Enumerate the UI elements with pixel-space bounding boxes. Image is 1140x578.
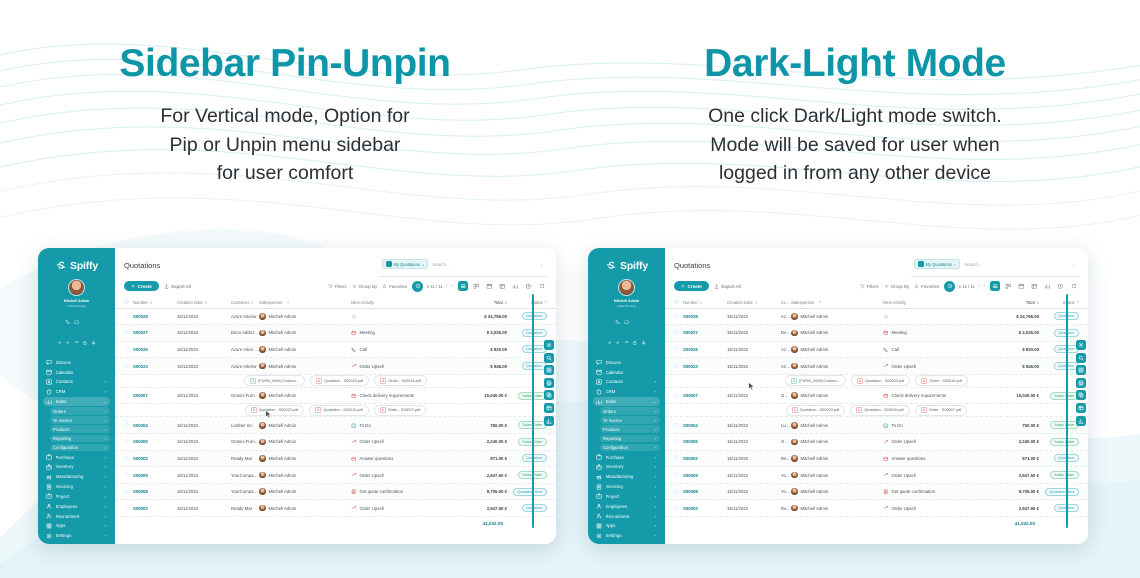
filter-group-by-button[interactable]: Group By bbox=[884, 284, 910, 289]
attachment-chip[interactable]: A Quotation - S00010.pdf bbox=[309, 405, 368, 416]
status-badge: Quotation bbox=[522, 504, 547, 512]
table-row[interactable]: S00007 15/11/2022 Gemini Furniture Mitch… bbox=[665, 388, 1088, 405]
column-header-next-activity[interactable]: Next Activity bbox=[351, 300, 449, 305]
activity-view-icon[interactable] bbox=[1055, 281, 1065, 291]
attachment-chip[interactable]: X [FURN_0096] Custom... bbox=[785, 375, 846, 386]
sidebar-item-calendar[interactable]: Calendar bbox=[593, 368, 660, 376]
settings-icon[interactable] bbox=[544, 340, 554, 350]
row-checkbox[interactable] bbox=[124, 346, 133, 352]
table-row[interactable]: S00002 15/11/2022 Ready Mat Mitchell Adm… bbox=[665, 451, 1088, 468]
cell-total: 2,947.50 € bbox=[981, 473, 1039, 478]
meeting-icon bbox=[351, 330, 357, 336]
sidebar-item-purchase[interactable]: Purchase› bbox=[593, 453, 660, 461]
cell-number[interactable]: S00027 bbox=[133, 330, 177, 335]
activity-view-icon[interactable] bbox=[523, 281, 533, 291]
export-icon[interactable] bbox=[1076, 403, 1086, 413]
sidebar-item-invoicing[interactable]: Invoicing› bbox=[43, 482, 110, 490]
list-view-icon[interactable] bbox=[458, 281, 468, 291]
cell-number[interactable]: S00004 bbox=[683, 423, 727, 428]
sidebar-item-apps[interactable]: Apps› bbox=[43, 522, 110, 530]
cell-next-activity: Call bbox=[351, 347, 449, 353]
chart-icon[interactable] bbox=[544, 416, 554, 426]
crm-icon bbox=[596, 389, 602, 395]
row-checkbox[interactable] bbox=[124, 313, 133, 319]
cell-creation-date: 15/11/2022 bbox=[727, 506, 781, 511]
table-row[interactable]: S00023 15/11/2022 Azure Interior Mitchel… bbox=[665, 358, 1088, 375]
heading-block-right: Dark-Light Mode One click Dark/Light mod… bbox=[570, 0, 1140, 232]
cell-status: Sales Order bbox=[507, 438, 547, 446]
print-icon[interactable] bbox=[1076, 378, 1086, 388]
table-row[interactable]: S00027 15/11/2022 Deco Addict, Addison O… bbox=[115, 325, 556, 342]
row-checkbox[interactable] bbox=[674, 489, 683, 495]
search-input[interactable]: Search... bbox=[964, 262, 1067, 267]
cell-total: 2,240.00 € bbox=[449, 439, 507, 444]
cell-total: 2,947.50 € bbox=[981, 506, 1039, 511]
sidebar-item-products[interactable]: Products› bbox=[600, 425, 660, 433]
cell-creation-date: 15/11/2022 bbox=[177, 423, 231, 428]
control-panel-left: Quotations My Quotations × Search... Cre… bbox=[115, 248, 556, 297]
settings-icon[interactable] bbox=[1076, 340, 1086, 350]
cell-number[interactable]: S00027 bbox=[683, 330, 727, 335]
filter-favorites-button[interactable]: Favorites bbox=[914, 284, 939, 289]
sidebar-item-label: Settings bbox=[56, 533, 102, 538]
cell-number[interactable]: S00002 bbox=[133, 456, 177, 461]
user-profile[interactable]: Mitchell Admin Input Homing bbox=[593, 279, 660, 308]
attachment-chip[interactable]: A Quotation - S00023.pdf bbox=[786, 405, 845, 416]
lock-icon[interactable] bbox=[632, 332, 638, 350]
row-checkbox[interactable] bbox=[124, 393, 133, 399]
search-options-icon[interactable] bbox=[1071, 255, 1076, 273]
cell-salesperson: Mitchell Admin bbox=[259, 330, 351, 337]
cell-number[interactable]: S00023 bbox=[133, 364, 177, 369]
cell-next-activity: Answer questions bbox=[351, 456, 449, 462]
sidebar-item-label: To Invoice bbox=[603, 418, 651, 423]
app-screenshot-right: Spiffy Mitchell Admin Input Homing Discu… bbox=[588, 248, 1088, 544]
cell-customer: Lumber Inc bbox=[231, 423, 259, 428]
status-badge: Sales Order bbox=[1050, 471, 1079, 479]
cell-creation-date: 15/11/2022 bbox=[727, 423, 781, 428]
close-icon[interactable]: × bbox=[422, 262, 424, 267]
column-header-status[interactable]: Status⇅ bbox=[507, 300, 547, 305]
cell-status: Quotation bbox=[1039, 504, 1079, 512]
attachment-label: Order - S00016.pdf bbox=[929, 379, 962, 383]
attachment-label: [FURN_0096] Custom... bbox=[258, 379, 299, 383]
select-all-checkbox[interactable] bbox=[124, 299, 133, 305]
table-row[interactable]: S00003 15/11/2022 Ready Mat Mitchell Adm… bbox=[665, 500, 1088, 517]
table-row[interactable]: S00003 15/11/2022 Ready Mat Mitchell Adm… bbox=[115, 500, 556, 517]
invoicing-icon bbox=[596, 484, 602, 490]
page-title-left: Sidebar Pin-Unpin bbox=[0, 42, 570, 86]
cell-number[interactable]: S00008 bbox=[133, 489, 177, 494]
sidebar-item-invoicing[interactable]: Invoicing› bbox=[593, 482, 660, 490]
row-checkbox[interactable] bbox=[124, 363, 133, 369]
avatar bbox=[791, 488, 798, 495]
export-icon[interactable] bbox=[544, 403, 554, 413]
table-row[interactable]: S00026 15/11/2022 Azure Interior, Nicole… bbox=[665, 342, 1088, 359]
cell-creation-date: 15/11/2022 bbox=[727, 439, 781, 444]
page-subtitle-left: For Vertical mode, Option for Pip or Unp… bbox=[0, 102, 570, 189]
chevron-right-icon: › bbox=[105, 504, 106, 509]
row-checkbox[interactable] bbox=[674, 505, 683, 511]
sidebar-item-orders[interactable]: Orders› bbox=[50, 407, 110, 415]
row-checkbox[interactable] bbox=[674, 346, 683, 352]
create-button[interactable]: Create bbox=[124, 281, 159, 291]
sidebar-item-inventory[interactable]: Inventory› bbox=[43, 463, 110, 471]
cell-number[interactable]: S00005 bbox=[133, 439, 177, 444]
attachment-chip[interactable]: A Order - S00016.pdf bbox=[374, 375, 427, 386]
table-header-row: Number⇅ Creation Date⇅ Customer⇅ Salespe… bbox=[115, 297, 556, 309]
row-checkbox[interactable] bbox=[674, 439, 683, 445]
cell-customer: Ready Mat bbox=[231, 456, 259, 461]
search-bar[interactable]: My Quotations × Search... bbox=[379, 254, 547, 277]
sidebar-item-label: Configuration bbox=[53, 445, 101, 450]
cell-number[interactable]: S00023 bbox=[683, 364, 727, 369]
table-row[interactable]: S00028 15/11/2022 Azure Interior Mitchel… bbox=[665, 309, 1088, 326]
pin-icon[interactable] bbox=[91, 332, 97, 350]
row-checkbox[interactable] bbox=[674, 472, 683, 478]
attachment-row: A Quotation - S00023.pdf A Quotation - S… bbox=[115, 404, 556, 417]
table-row[interactable]: S00005 15/11/2022 Gemini Furniture Mitch… bbox=[115, 434, 556, 451]
table-row[interactable]: S00008 15/11/2022 YourCompany, Joel Will… bbox=[115, 484, 556, 501]
search-options-icon[interactable] bbox=[539, 255, 544, 273]
column-header-creation-date[interactable]: Creation Date⇅ bbox=[177, 300, 231, 305]
row-checkbox[interactable] bbox=[124, 330, 133, 336]
control-panel-right: Quotations My Quotations × Search... Cre… bbox=[665, 248, 1088, 297]
filter-filters-button[interactable]: Filters bbox=[328, 284, 347, 289]
row-checkbox[interactable] bbox=[124, 455, 133, 461]
chart-icon[interactable] bbox=[1076, 416, 1086, 426]
sidebar-item-manufacturing[interactable]: Manufacturing› bbox=[593, 473, 660, 481]
cell-customer: Ready Mat bbox=[231, 506, 259, 511]
export-all-button[interactable]: Export All bbox=[714, 284, 741, 289]
attachment-row: A Quotation - S00023.pdf A Quotation - S… bbox=[665, 404, 1088, 417]
sidebar-item-label: Project bbox=[606, 494, 652, 499]
call-icon bbox=[351, 347, 357, 353]
create-label: Create bbox=[138, 284, 152, 289]
cell-number[interactable]: S00028 bbox=[683, 314, 727, 319]
row-checkbox[interactable] bbox=[674, 455, 683, 461]
purchase-icon bbox=[596, 454, 602, 460]
sidebar-item-employees[interactable]: Employees› bbox=[593, 502, 660, 510]
row-checkbox[interactable] bbox=[674, 330, 683, 336]
sidebar-item-project[interactable]: Project› bbox=[43, 492, 110, 500]
cell-status: Sales Order bbox=[1039, 471, 1079, 479]
wifi-icon[interactable] bbox=[74, 332, 80, 350]
column-header-number[interactable]: Number⇅ bbox=[683, 300, 727, 305]
sidebar-item-configuration[interactable]: Configuration› bbox=[600, 444, 660, 452]
cell-number[interactable]: S00009 bbox=[133, 473, 177, 478]
sidebar-item-to-invoice[interactable]: To Invoice› bbox=[600, 416, 660, 424]
column-header-customer[interactable]: Customer⇅ bbox=[781, 300, 791, 305]
print-icon[interactable] bbox=[544, 378, 554, 388]
cell-number[interactable]: S00004 bbox=[133, 423, 177, 428]
record-count-badge[interactable] bbox=[412, 281, 423, 292]
list-view-icon[interactable] bbox=[990, 281, 1000, 291]
cell-number[interactable]: S00028 bbox=[133, 314, 177, 319]
column-header-creation-date[interactable]: Creation Date⇅ bbox=[727, 300, 781, 305]
sidebar-item-sales[interactable]: Sales⌄ bbox=[43, 397, 110, 405]
sidebar-item-reporting[interactable]: Reporting› bbox=[600, 435, 660, 443]
table-row[interactable]: S00004 15/11/2022 Lumber Inc Mitchell Ad… bbox=[665, 417, 1088, 434]
pager-next-button[interactable]: › bbox=[451, 283, 453, 289]
sidebar-item-crm[interactable]: CRM› bbox=[43, 388, 110, 396]
chevron-right-icon: › bbox=[655, 533, 656, 538]
attachment-chip[interactable]: A Quotation - S00010.pdf bbox=[850, 405, 909, 416]
column-header-next-activity[interactable]: Next Activity bbox=[883, 300, 981, 305]
brand-name: Spiffy bbox=[620, 260, 648, 272]
sidebar-item-recruitment[interactable]: Recruitment› bbox=[43, 512, 110, 520]
lock-icon[interactable] bbox=[82, 332, 88, 350]
cell-number[interactable]: S00002 bbox=[683, 456, 727, 461]
table-row[interactable]: S00023 15/11/2022 Azure Interior Mitchel… bbox=[115, 358, 556, 375]
chevron-right-icon: › bbox=[655, 464, 656, 469]
sidebar-menu: Discuss Calendar Contacts› CRM› Sales⌄ O… bbox=[43, 358, 110, 540]
calendar-view-icon[interactable] bbox=[484, 281, 494, 291]
attachment-label: [FURN_0096] Custom... bbox=[799, 379, 840, 383]
sidebar-item-recruitment[interactable]: Recruitment› bbox=[593, 512, 660, 520]
employees-icon bbox=[46, 503, 52, 509]
sidebar-item-label: Invoicing bbox=[56, 484, 102, 489]
row-checkbox[interactable] bbox=[124, 489, 133, 495]
pivot-view-icon[interactable] bbox=[497, 281, 507, 291]
pager-prev-button[interactable]: ‹ bbox=[446, 283, 448, 289]
todo-icon bbox=[883, 423, 889, 429]
search-input[interactable]: Search... bbox=[432, 262, 535, 267]
pin-icon[interactable] bbox=[641, 332, 647, 350]
chevron-right-icon: › bbox=[105, 455, 106, 460]
attachment-chip[interactable]: A Quotation - S00023.pdf bbox=[851, 375, 910, 386]
filter-label: Group By bbox=[359, 284, 378, 289]
row-checkbox[interactable] bbox=[674, 393, 683, 399]
calendar-icon[interactable] bbox=[83, 312, 89, 330]
table-row[interactable]: S00008 15/11/2022 YourCompany, Joel Will… bbox=[665, 484, 1088, 501]
cell-number[interactable]: S00009 bbox=[683, 473, 727, 478]
sidebar-item-discuss[interactable]: Discuss bbox=[593, 358, 660, 366]
user-profile[interactable]: Mitchell Admin Input Homing bbox=[43, 279, 110, 308]
attachment-chip[interactable]: A Quotation - S00023.pdf bbox=[310, 375, 369, 386]
floating-toolbar-right bbox=[1076, 340, 1086, 426]
search-facet[interactable]: My Quotations × bbox=[914, 259, 960, 269]
recruitment-icon bbox=[46, 513, 52, 519]
sidebar-item-crm[interactable]: CRM› bbox=[593, 388, 660, 396]
cell-salesperson: Mitchell Admin bbox=[791, 488, 883, 495]
search-icon[interactable] bbox=[1076, 353, 1086, 363]
cell-customer: Lumber Inc bbox=[781, 423, 791, 428]
sidebar-item-settings[interactable]: Settings› bbox=[43, 532, 110, 540]
chevron-right-icon: › bbox=[655, 523, 656, 528]
pdf-file-icon: A bbox=[856, 407, 862, 413]
export-all-button[interactable]: Export All bbox=[164, 284, 191, 289]
status-badge: Sales Order bbox=[1050, 421, 1079, 429]
refresh-icon[interactable] bbox=[1070, 281, 1080, 291]
cell-total: $ 3,025.00 bbox=[981, 330, 1039, 335]
cell-salesperson: Mitchell Admin bbox=[791, 363, 883, 370]
select-all-checkbox[interactable] bbox=[674, 299, 683, 305]
cell-number[interactable]: S00005 bbox=[683, 439, 727, 444]
spiffy-s-logo bbox=[605, 260, 617, 272]
search-bar[interactable]: My Quotations × Search... bbox=[911, 254, 1079, 277]
cell-salesperson: Mitchell Admin bbox=[259, 439, 351, 446]
close-icon[interactable]: × bbox=[954, 262, 956, 267]
table-row[interactable]: S00009 15/11/2022 YourCompany, Joel Will… bbox=[115, 467, 556, 484]
wifi-icon[interactable] bbox=[624, 332, 630, 350]
cell-number[interactable]: S00003 bbox=[683, 506, 727, 511]
cell-salesperson: Mitchell Admin bbox=[791, 346, 883, 353]
filter-group-by-button[interactable]: Group By bbox=[352, 284, 378, 289]
chevron-right-icon: › bbox=[105, 464, 106, 469]
attachment-label: Quotation - S00010.pdf bbox=[864, 408, 903, 412]
scroll-rail[interactable] bbox=[1066, 294, 1068, 528]
cell-number[interactable]: S00026 bbox=[683, 347, 727, 352]
cell-number[interactable]: S00007 bbox=[133, 393, 177, 398]
attachment-chip[interactable]: A Order - S00016.pdf bbox=[915, 375, 968, 386]
pager-next-button[interactable]: › bbox=[983, 283, 985, 289]
graph-view-icon[interactable] bbox=[1042, 281, 1052, 291]
avatar bbox=[259, 422, 266, 429]
table-row[interactable]: S00009 15/11/2022 YourCompany, Joel Will… bbox=[665, 467, 1088, 484]
scroll-rail[interactable] bbox=[532, 294, 534, 528]
column-header-total[interactable]: Total⇅ bbox=[449, 300, 507, 305]
upsell-icon bbox=[351, 505, 357, 511]
table-row[interactable]: S00028 15/11/2022 Azure Interior Mitchel… bbox=[115, 309, 556, 326]
link-icon[interactable] bbox=[615, 332, 621, 350]
cell-next-activity: Meeting bbox=[883, 330, 981, 336]
avatar bbox=[259, 439, 266, 446]
cell-total: $ 946.00 bbox=[449, 364, 507, 369]
cell-number[interactable]: S00007 bbox=[683, 393, 727, 398]
sidebar-item-to-invoice[interactable]: To Invoice› bbox=[50, 416, 110, 424]
row-checkbox[interactable] bbox=[674, 313, 683, 319]
column-header-status[interactable]: Status⇅ bbox=[1039, 300, 1079, 305]
calendar-icon[interactable] bbox=[633, 312, 639, 330]
contacts-icon bbox=[46, 379, 52, 385]
home-icon[interactable] bbox=[624, 312, 630, 330]
cell-number[interactable]: S00008 bbox=[683, 489, 727, 494]
column-header-customer[interactable]: Customer⇅ bbox=[231, 300, 259, 305]
calendar-view-icon[interactable] bbox=[1016, 281, 1026, 291]
cell-next-activity: Order Upsell bbox=[351, 472, 449, 478]
refresh-icon[interactable] bbox=[538, 281, 548, 291]
sidebar-item-reporting[interactable]: Reporting› bbox=[50, 435, 110, 443]
cell-customer: Gemini Furniture bbox=[231, 439, 259, 444]
sidebar-item-label: Discuss bbox=[606, 360, 657, 365]
cell-salesperson: Mitchell Admin bbox=[259, 488, 351, 495]
pager-prev-button[interactable]: ‹ bbox=[978, 283, 980, 289]
cell-customer: YourCompany, Joel Willis bbox=[781, 473, 791, 478]
sidebar-item-products[interactable]: Products› bbox=[50, 425, 110, 433]
sidebar-item-calendar[interactable]: Calendar bbox=[43, 368, 110, 376]
sidebar-item-orders[interactable]: Orders› bbox=[600, 407, 660, 415]
project-icon bbox=[46, 493, 52, 499]
avatar bbox=[618, 279, 635, 296]
column-header-total[interactable]: Total⇅ bbox=[981, 300, 1039, 305]
cell-status: Sales Order bbox=[1039, 392, 1079, 400]
cell-number[interactable]: S00026 bbox=[133, 347, 177, 352]
duplicate-icon[interactable] bbox=[544, 390, 554, 400]
sidebar-item-employees[interactable]: Employees› bbox=[43, 502, 110, 510]
cell-total: 15,040.00 € bbox=[449, 393, 507, 398]
search-icon[interactable] bbox=[544, 353, 554, 363]
phone-icon[interactable] bbox=[65, 312, 71, 330]
row-checkbox[interactable] bbox=[124, 505, 133, 511]
sidebar-item-project[interactable]: Project› bbox=[593, 492, 660, 500]
page-subtitle-right: One click Dark/Light mode switch. Mode w… bbox=[570, 102, 1140, 189]
row-checkbox[interactable] bbox=[124, 422, 133, 428]
mouse-cursor bbox=[265, 406, 271, 414]
pivot-view-icon[interactable] bbox=[1029, 281, 1039, 291]
sidebar-item-label: Settings bbox=[606, 533, 652, 538]
link-icon[interactable] bbox=[65, 332, 71, 350]
sidebar-item-settings[interactable]: Settings› bbox=[593, 532, 660, 540]
cell-customer: YourCompany, Joel Willis bbox=[781, 489, 791, 494]
table-row[interactable]: S00002 15/11/2022 Ready Mat Mitchell Adm… bbox=[115, 451, 556, 468]
phone-icon[interactable] bbox=[615, 312, 621, 330]
cell-salesperson: Mitchell Admin bbox=[259, 472, 351, 479]
sidebar-item-configuration[interactable]: Configuration› bbox=[50, 444, 110, 452]
row-checkbox[interactable] bbox=[124, 439, 133, 445]
sidebar-item-contacts[interactable]: Contacts› bbox=[593, 378, 660, 386]
filter-favorites-button[interactable]: Favorites bbox=[382, 284, 407, 289]
row-checkbox[interactable] bbox=[674, 422, 683, 428]
attachment-chip[interactable]: A Order - S00007.pdf bbox=[374, 405, 427, 416]
sidebar-item-contacts[interactable]: Contacts› bbox=[43, 378, 110, 386]
cell-number[interactable]: S00003 bbox=[133, 506, 177, 511]
filter-filters-button[interactable]: Filters bbox=[860, 284, 879, 289]
sidebar-item-sales[interactable]: Sales⌄ bbox=[593, 397, 660, 405]
column-header-salesperson[interactable]: Salesperson⇅ bbox=[259, 300, 351, 305]
apps-grid-icon[interactable] bbox=[544, 365, 554, 375]
chevron-right-icon: › bbox=[655, 427, 656, 432]
table-row[interactable]: S00004 15/11/2022 Lumber Inc Mitchell Ad… bbox=[115, 417, 556, 434]
table-row[interactable]: S00007 15/11/2022 Gemini Furniture Mitch… bbox=[115, 388, 556, 405]
kanban-view-icon[interactable] bbox=[1003, 281, 1013, 291]
sidebar-item-inventory[interactable]: Inventory› bbox=[593, 463, 660, 471]
table-row[interactable]: S00027 15/11/2022 Deco Addict, Addison O… bbox=[665, 325, 1088, 342]
sidebar-item-purchase[interactable]: Purchase› bbox=[43, 453, 110, 461]
link-icon[interactable] bbox=[607, 332, 613, 350]
link-icon[interactable] bbox=[57, 332, 63, 350]
table-row[interactable]: S00005 15/11/2022 Gemini Furniture Mitch… bbox=[665, 434, 1088, 451]
kanban-view-icon[interactable] bbox=[471, 281, 481, 291]
cell-salesperson: Mitchell Admin bbox=[259, 346, 351, 353]
sidebar-item-label: Contacts bbox=[56, 379, 102, 384]
sidebar-item-discuss[interactable]: Discuss bbox=[43, 358, 110, 366]
row-checkbox[interactable] bbox=[674, 363, 683, 369]
status-badge: Quotation bbox=[522, 312, 547, 320]
apps-grid-icon[interactable] bbox=[1076, 365, 1086, 375]
create-button[interactable]: Create bbox=[674, 281, 709, 291]
row-checkbox[interactable] bbox=[124, 472, 133, 478]
graph-view-icon[interactable] bbox=[510, 281, 520, 291]
search-facet[interactable]: My Quotations × bbox=[382, 259, 428, 269]
attachment-chip[interactable]: X [FURN_0096] Custom... bbox=[244, 375, 305, 386]
column-header-number[interactable]: Number⇅ bbox=[133, 300, 177, 305]
cell-creation-date: 15/11/2022 bbox=[177, 347, 231, 352]
cell-creation-date: 15/11/2022 bbox=[727, 456, 781, 461]
home-icon[interactable] bbox=[74, 312, 80, 330]
sidebar-item-apps[interactable]: Apps› bbox=[593, 522, 660, 530]
sidebar-item-manufacturing[interactable]: Manufacturing› bbox=[43, 473, 110, 481]
attachment-chip[interactable]: A Order - S00007.pdf bbox=[915, 405, 968, 416]
attachment-chip[interactable]: A Quotation - S00023.pdf bbox=[245, 405, 304, 416]
duplicate-icon[interactable] bbox=[1076, 390, 1086, 400]
cell-salesperson: Mitchell Admin bbox=[259, 505, 351, 512]
sidebar-item-label: Reporting bbox=[603, 436, 651, 441]
record-count-badge[interactable] bbox=[944, 281, 955, 292]
table-row[interactable]: S00026 15/11/2022 Azure Interior, Nicole… bbox=[115, 342, 556, 359]
chevron-right-icon: › bbox=[105, 533, 106, 538]
column-header-salesperson[interactable]: Salesperson⇅ bbox=[791, 300, 883, 305]
